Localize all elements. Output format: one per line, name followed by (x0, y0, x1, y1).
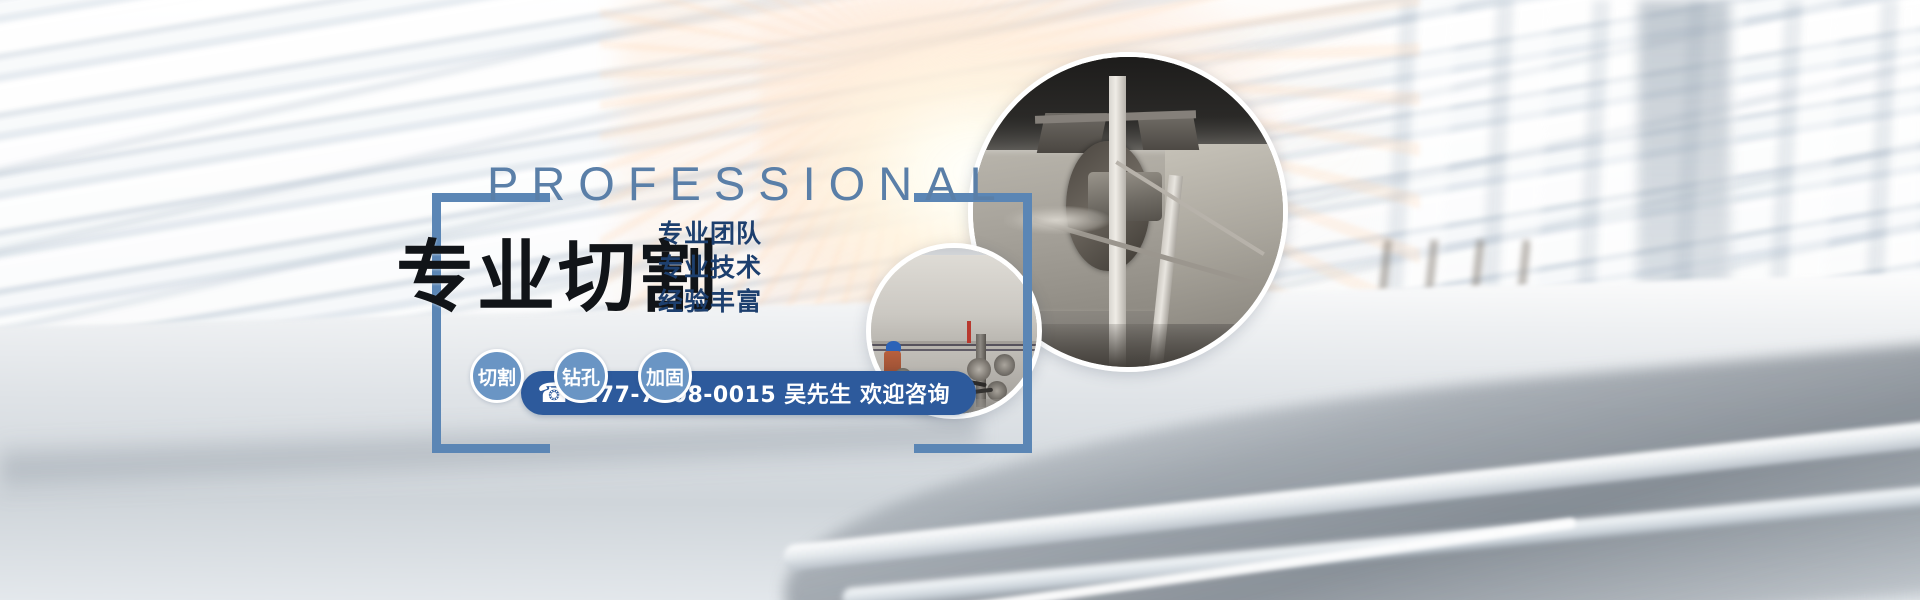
service-badge-drilling[interactable]: 钻孔 (554, 349, 608, 403)
promo-banner: PROFESSIONAL 专业切割 专业团队 专业技术 经验丰富 ☎ 177-7… (0, 0, 1920, 600)
feature-item-2: 专业技术 (658, 253, 762, 283)
feature-item-3: 经验丰富 (658, 287, 762, 317)
feature-list: 专业团队 专业技术 经验丰富 (658, 219, 762, 321)
bracket-bottom-right-horizontal (914, 444, 1032, 453)
banner-content: PROFESSIONAL 专业切割 专业团队 专业技术 经验丰富 ☎ 177-7… (0, 0, 1100, 600)
bracket-bottom-left-horizontal (432, 444, 550, 453)
bracket-right-vertical (1023, 193, 1032, 453)
service-badge-cutting[interactable]: 切割 (470, 349, 524, 403)
service-badge-reinforcement[interactable]: 加固 (638, 349, 692, 403)
feature-item-1: 专业团队 (658, 219, 762, 249)
service-badge-group: 切割 钻孔 加固 (470, 349, 692, 403)
eyebrow-text: PROFESSIONAL (487, 156, 1009, 211)
